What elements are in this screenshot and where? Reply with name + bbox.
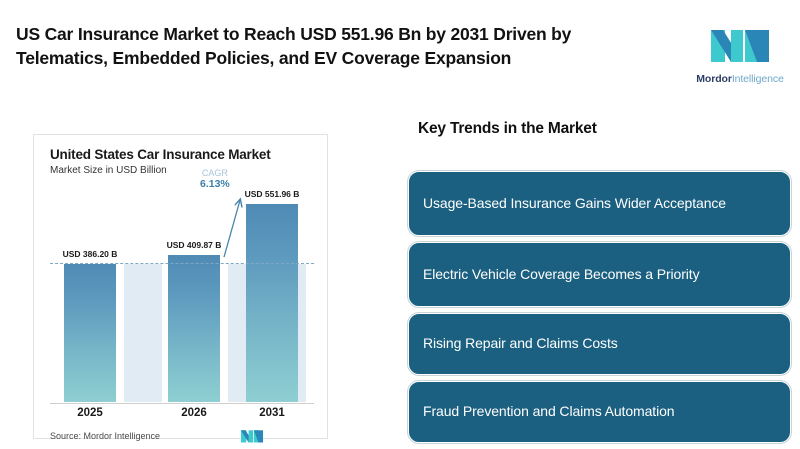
chart-title: United States Car Insurance Market (50, 147, 271, 162)
x-axis-tick-label: 2031 (259, 407, 285, 419)
list-item[interactable]: Usage-Based Insurance Gains Wider Accept… (408, 171, 791, 236)
mordor-m-mark-small-icon (239, 428, 265, 444)
trend-label: Usage-Based Insurance Gains Wider Accept… (423, 195, 726, 213)
cagr-label: CAGR (200, 168, 230, 178)
chart-bar (246, 204, 298, 402)
chart-bar (64, 264, 116, 402)
header: US Car Insurance Market to Reach USD 551… (0, 0, 800, 108)
list-item[interactable]: Electric Vehicle Coverage Becomes a Prio… (408, 242, 791, 307)
cagr-value: 6.13% (200, 178, 230, 190)
chart-reference-line (50, 263, 314, 264)
chart-bar (168, 255, 220, 402)
trend-label: Fraud Prevention and Claims Automation (423, 403, 674, 421)
chart-source: Source: Mordor Intelligence (50, 431, 160, 441)
brand-word-secondary: Intelligence (732, 73, 784, 85)
brand-logo: MordorIntelligence (688, 6, 792, 102)
page-title: US Car Insurance Market to Reach USD 551… (16, 22, 666, 70)
trend-label: Rising Repair and Claims Costs (423, 335, 618, 353)
brand-wordmark: MordorIntelligence (696, 73, 783, 85)
cagr-annotation: CAGR6.13% (200, 168, 230, 190)
list-item[interactable]: Rising Repair and Claims Costs (408, 313, 791, 375)
chart-panel: United States Car Insurance Market Marke… (33, 134, 328, 439)
x-axis-tick-label: 2026 (181, 407, 207, 419)
chart-bar-value-label: USD 409.87 B (167, 240, 222, 250)
x-axis-line (50, 403, 314, 404)
chart-filler-band (124, 264, 162, 402)
chart-bar-value-label: USD 551.96 B (245, 189, 300, 199)
brand-word-primary: Mordor (696, 73, 732, 85)
x-axis-tick-labels: 202520262031 (50, 407, 314, 427)
chart-subtitle: Market Size in USD Billion (50, 165, 167, 176)
key-trends-list: Usage-Based Insurance Gains Wider Accept… (408, 171, 791, 449)
x-axis-tick-label: 2025 (77, 407, 103, 419)
list-item[interactable]: Fraud Prevention and Claims Automation (408, 381, 791, 443)
trend-label: Electric Vehicle Coverage Becomes a Prio… (423, 266, 700, 284)
key-trends-title: Key Trends in the Market (418, 120, 597, 138)
bar-chart-plot: USD 386.20 BUSD 409.87 BUSD 551.96 BCAGR… (50, 187, 314, 402)
mordor-m-mark-icon (709, 24, 771, 66)
chart-bar-value-label: USD 386.20 B (63, 249, 118, 259)
